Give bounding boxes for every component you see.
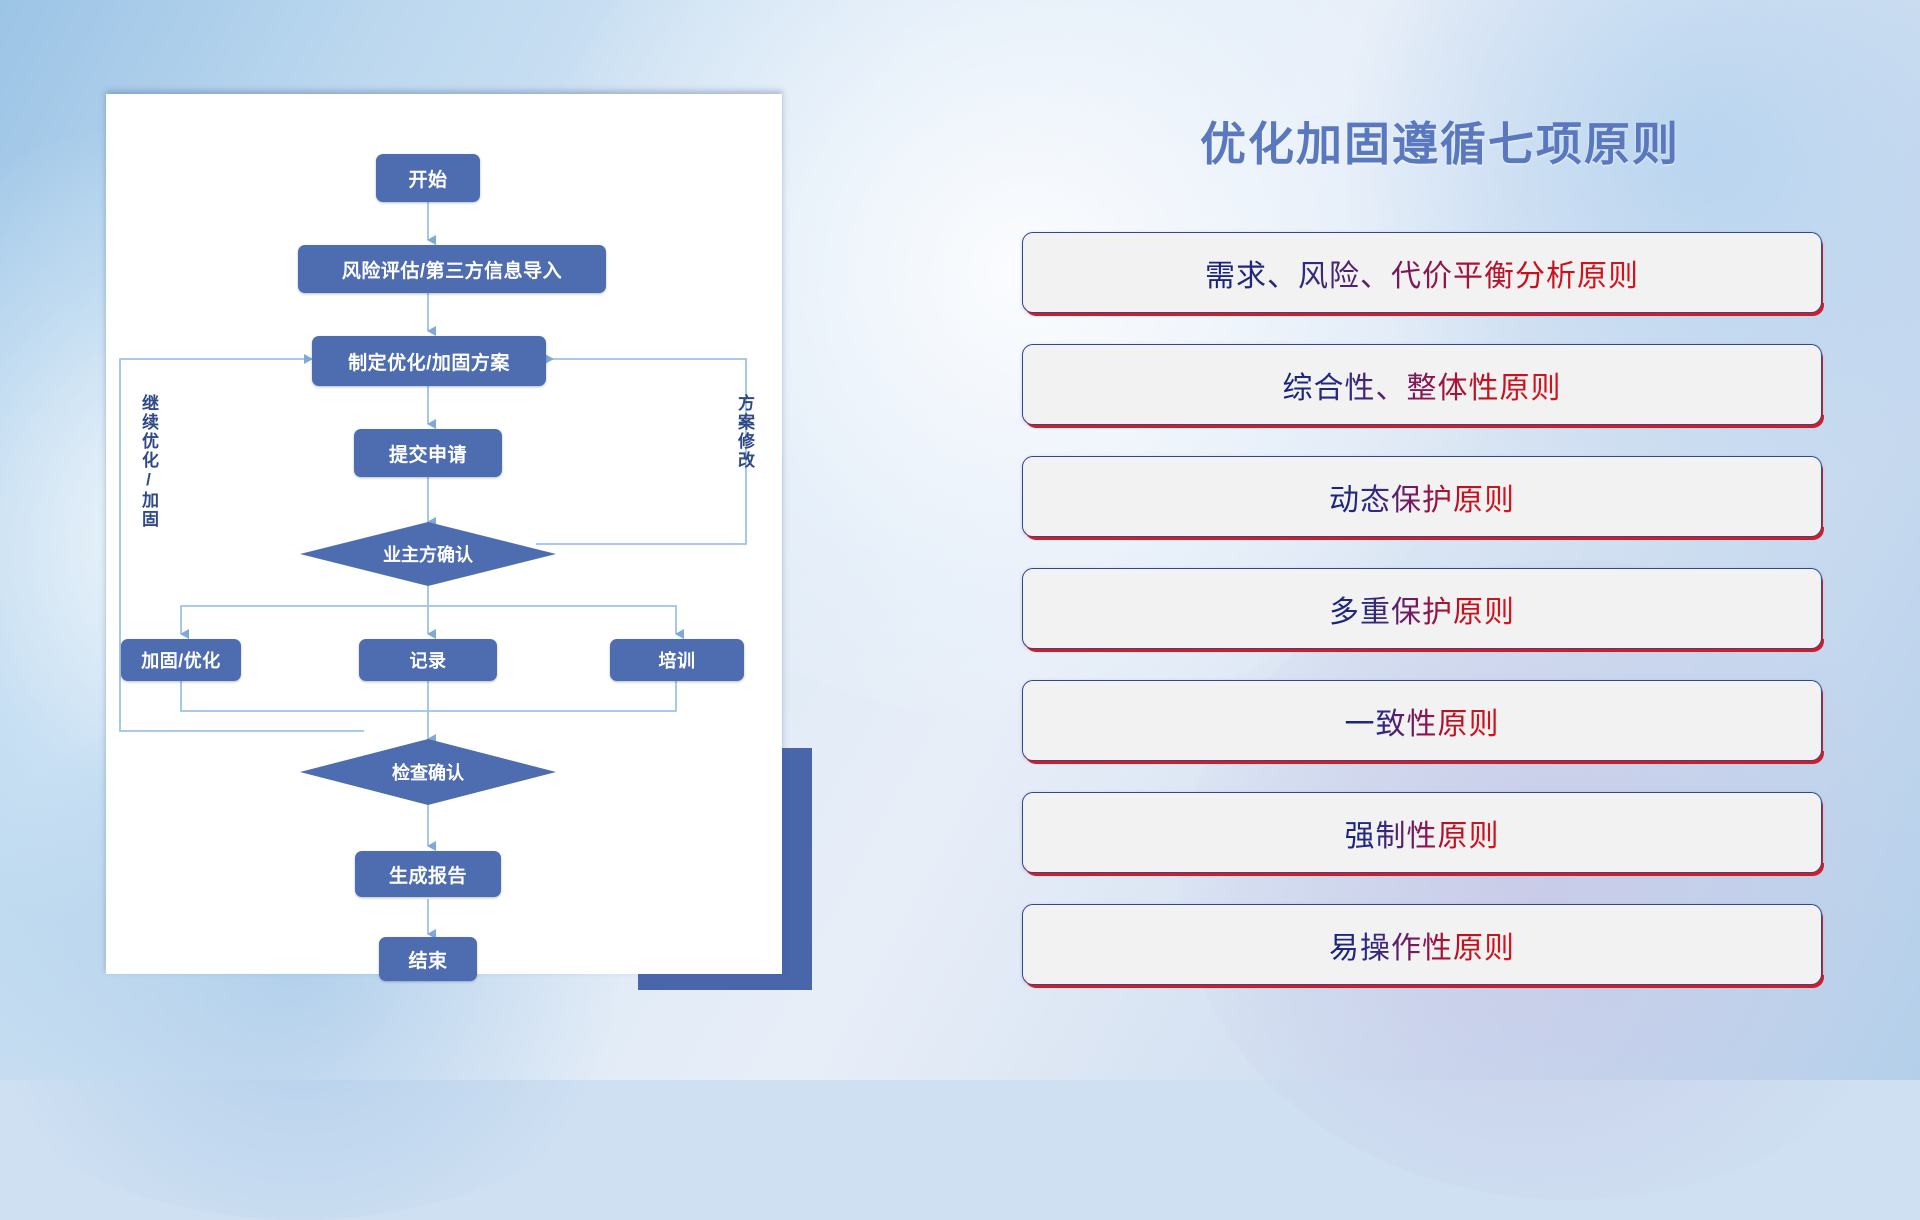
principle-item-6[interactable]: 强制性原则 [1022, 792, 1822, 873]
flow-node-owner-confirm-label: 业主方确认 [383, 541, 473, 567]
flow-node-report-label: 生成报告 [389, 861, 467, 888]
principles-list: 需求、风险、代价平衡分析原则 综合性、整体性原则 动态保护原则 多重保护原则 一… [1022, 232, 1822, 1016]
principle-item-7[interactable]: 易操作性原则 [1022, 904, 1822, 985]
principles-title: 优化加固遵循七项原则 [1140, 108, 1740, 174]
flow-node-owner-confirm[interactable]: 业主方确认 [300, 522, 556, 586]
principle-item-2[interactable]: 综合性、整体性原则 [1022, 344, 1822, 425]
principle-item-1[interactable]: 需求、风险、代价平衡分析原则 [1022, 232, 1822, 313]
principle-item-5[interactable]: 一致性原则 [1022, 680, 1822, 761]
flow-node-record[interactable]: 记录 [359, 639, 497, 681]
principle-item-4-label: 多重保护原则 [1329, 587, 1515, 631]
flow-node-plan-label: 制定优化/加固方案 [348, 348, 510, 375]
flow-node-report[interactable]: 生成报告 [355, 851, 501, 897]
flow-node-check-confirm[interactable]: 检查确认 [300, 739, 556, 805]
flow-node-submit-label: 提交申请 [389, 440, 467, 467]
flowchart-card: 开始 风险评估/第三方信息导入 制定优化/加固方案 提交申请 业主方确认 加固/… [106, 94, 782, 974]
flow-node-training-label: 培训 [659, 647, 696, 673]
flow-node-risk-assessment[interactable]: 风险评估/第三方信息导入 [298, 245, 606, 293]
flow-node-end-label: 结束 [408, 946, 447, 973]
flow-node-start-label: 开始 [408, 165, 447, 192]
principle-item-6-label: 强制性原则 [1345, 811, 1500, 855]
flow-node-start[interactable]: 开始 [376, 154, 480, 202]
principle-item-1-label: 需求、风险、代价平衡分析原则 [1205, 251, 1639, 295]
principle-item-2-label: 综合性、整体性原则 [1283, 363, 1562, 407]
flow-node-end[interactable]: 结束 [379, 937, 477, 981]
flow-node-training[interactable]: 培训 [610, 639, 744, 681]
flow-node-check-confirm-label: 检查确认 [392, 759, 464, 785]
principle-item-5-label: 一致性原则 [1345, 699, 1500, 743]
flow-node-plan[interactable]: 制定优化/加固方案 [312, 336, 546, 386]
flow-edge-label-plan-revision: 方案修改 [736, 394, 753, 470]
flow-node-risk-assessment-label: 风险评估/第三方信息导入 [342, 256, 562, 283]
principle-item-3[interactable]: 动态保护原则 [1022, 456, 1822, 537]
flow-node-submit[interactable]: 提交申请 [354, 429, 502, 477]
flow-node-reinforce[interactable]: 加固/优化 [121, 639, 241, 681]
principle-item-3-label: 动态保护原则 [1329, 475, 1515, 519]
principle-item-7-label: 易操作性原则 [1329, 923, 1515, 967]
principle-item-4[interactable]: 多重保护原则 [1022, 568, 1822, 649]
flowchart-canvas: 开始 风险评估/第三方信息导入 制定优化/加固方案 提交申请 业主方确认 加固/… [106, 94, 782, 974]
flow-node-record-label: 记录 [410, 647, 447, 673]
flow-node-reinforce-label: 加固/优化 [141, 647, 221, 673]
flow-edge-label-continue-optimize: 继续优化/加固 [140, 394, 157, 529]
